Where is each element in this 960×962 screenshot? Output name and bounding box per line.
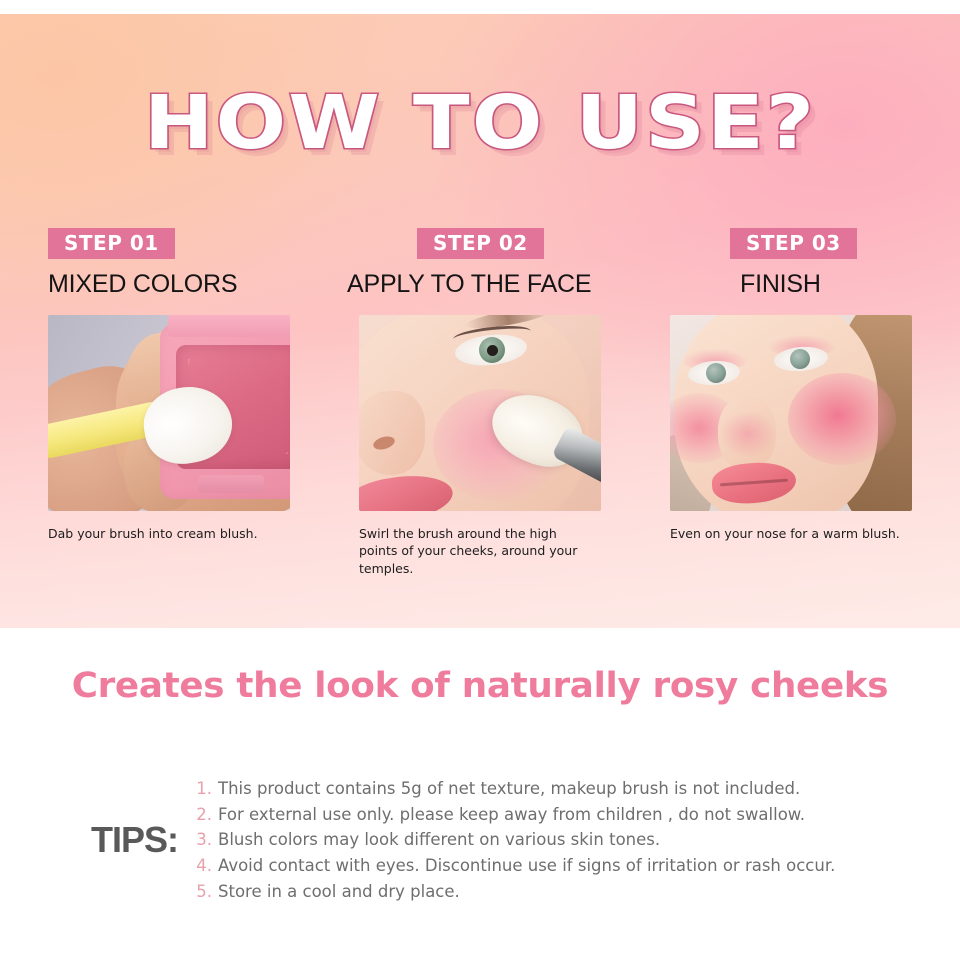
tips-label: TIPS: bbox=[0, 819, 190, 861]
step-column-3: STEP 03 FINISH bbox=[670, 228, 912, 608]
step-badge-2: STEP 02 bbox=[417, 228, 544, 259]
step-badge-3: STEP 03 bbox=[730, 228, 857, 259]
list-item-text: Blush colors may look different on vario… bbox=[218, 827, 660, 853]
list-item: 3. Blush colors may look different on va… bbox=[190, 827, 960, 853]
step-caption-3: Even on your nose for a warm blush. bbox=[670, 525, 902, 543]
list-item: 4. Avoid contact with eyes. Discontinue … bbox=[190, 853, 960, 879]
pupil-shape bbox=[487, 345, 498, 356]
step-caption-2: Swirl the brush around the high points o… bbox=[359, 525, 591, 578]
list-item-text: Store in a cool and dry place. bbox=[218, 879, 460, 905]
cheek-blush-right-shape bbox=[788, 373, 896, 465]
compact-clasp-shape bbox=[198, 475, 264, 493]
page-title: HOW TO USE? bbox=[144, 86, 816, 160]
list-item-number: 5. bbox=[190, 879, 212, 905]
how-to-use-section: HOW TO USE? STEP 01 MIXED COLORS bbox=[0, 14, 960, 628]
step-photo-1 bbox=[48, 315, 290, 511]
step-column-2: STEP 02 APPLY TO THE FACE Swirl th bbox=[359, 228, 601, 608]
iris-right-shape bbox=[790, 349, 810, 369]
step-caption-1: Dab your brush into cream blush. bbox=[48, 525, 280, 543]
list-item-number: 4. bbox=[190, 853, 212, 879]
list-item: 5. Store in a cool and dry place. bbox=[190, 879, 960, 905]
list-item-text: Avoid contact with eyes. Discontinue use… bbox=[218, 853, 835, 879]
infographic-page: HOW TO USE? STEP 01 MIXED COLORS bbox=[0, 0, 960, 962]
step-column-1: STEP 01 MIXED COLORS Dab your brus bbox=[48, 228, 290, 608]
iris-left-shape bbox=[706, 363, 726, 383]
list-item-number: 3. bbox=[190, 827, 212, 853]
step-badge-1: STEP 01 bbox=[48, 228, 175, 259]
list-item-number: 2. bbox=[190, 802, 212, 828]
step-photo-2 bbox=[359, 315, 601, 511]
tips-list: 1. This product contains 5g of net textu… bbox=[190, 776, 960, 905]
list-item: 2. For external use only. please keep aw… bbox=[190, 802, 960, 828]
list-item-number: 1. bbox=[190, 776, 212, 802]
list-item-text: For external use only. please keep away … bbox=[218, 802, 805, 828]
step-photo-3 bbox=[670, 315, 912, 511]
compact-lid-shape bbox=[168, 315, 290, 337]
nose-shape bbox=[359, 391, 425, 475]
tips-block: TIPS: 1. This product contains 5g of net… bbox=[0, 776, 960, 905]
step-title-1: MIXED COLORS bbox=[48, 271, 290, 299]
promo-tips-section: Creates the look of naturally rosy cheek… bbox=[0, 628, 960, 962]
list-item-text: This product contains 5g of net texture,… bbox=[218, 776, 800, 802]
title-container: HOW TO USE? bbox=[0, 86, 960, 160]
step-title-2: APPLY TO THE FACE bbox=[347, 271, 601, 299]
step-title-3: FINISH bbox=[740, 271, 912, 299]
promo-headline: Creates the look of naturally rosy cheek… bbox=[0, 666, 960, 706]
steps-row: STEP 01 MIXED COLORS Dab your brus bbox=[48, 228, 912, 608]
nose-blush-shape bbox=[720, 411, 776, 457]
list-item: 1. This product contains 5g of net textu… bbox=[190, 776, 960, 802]
